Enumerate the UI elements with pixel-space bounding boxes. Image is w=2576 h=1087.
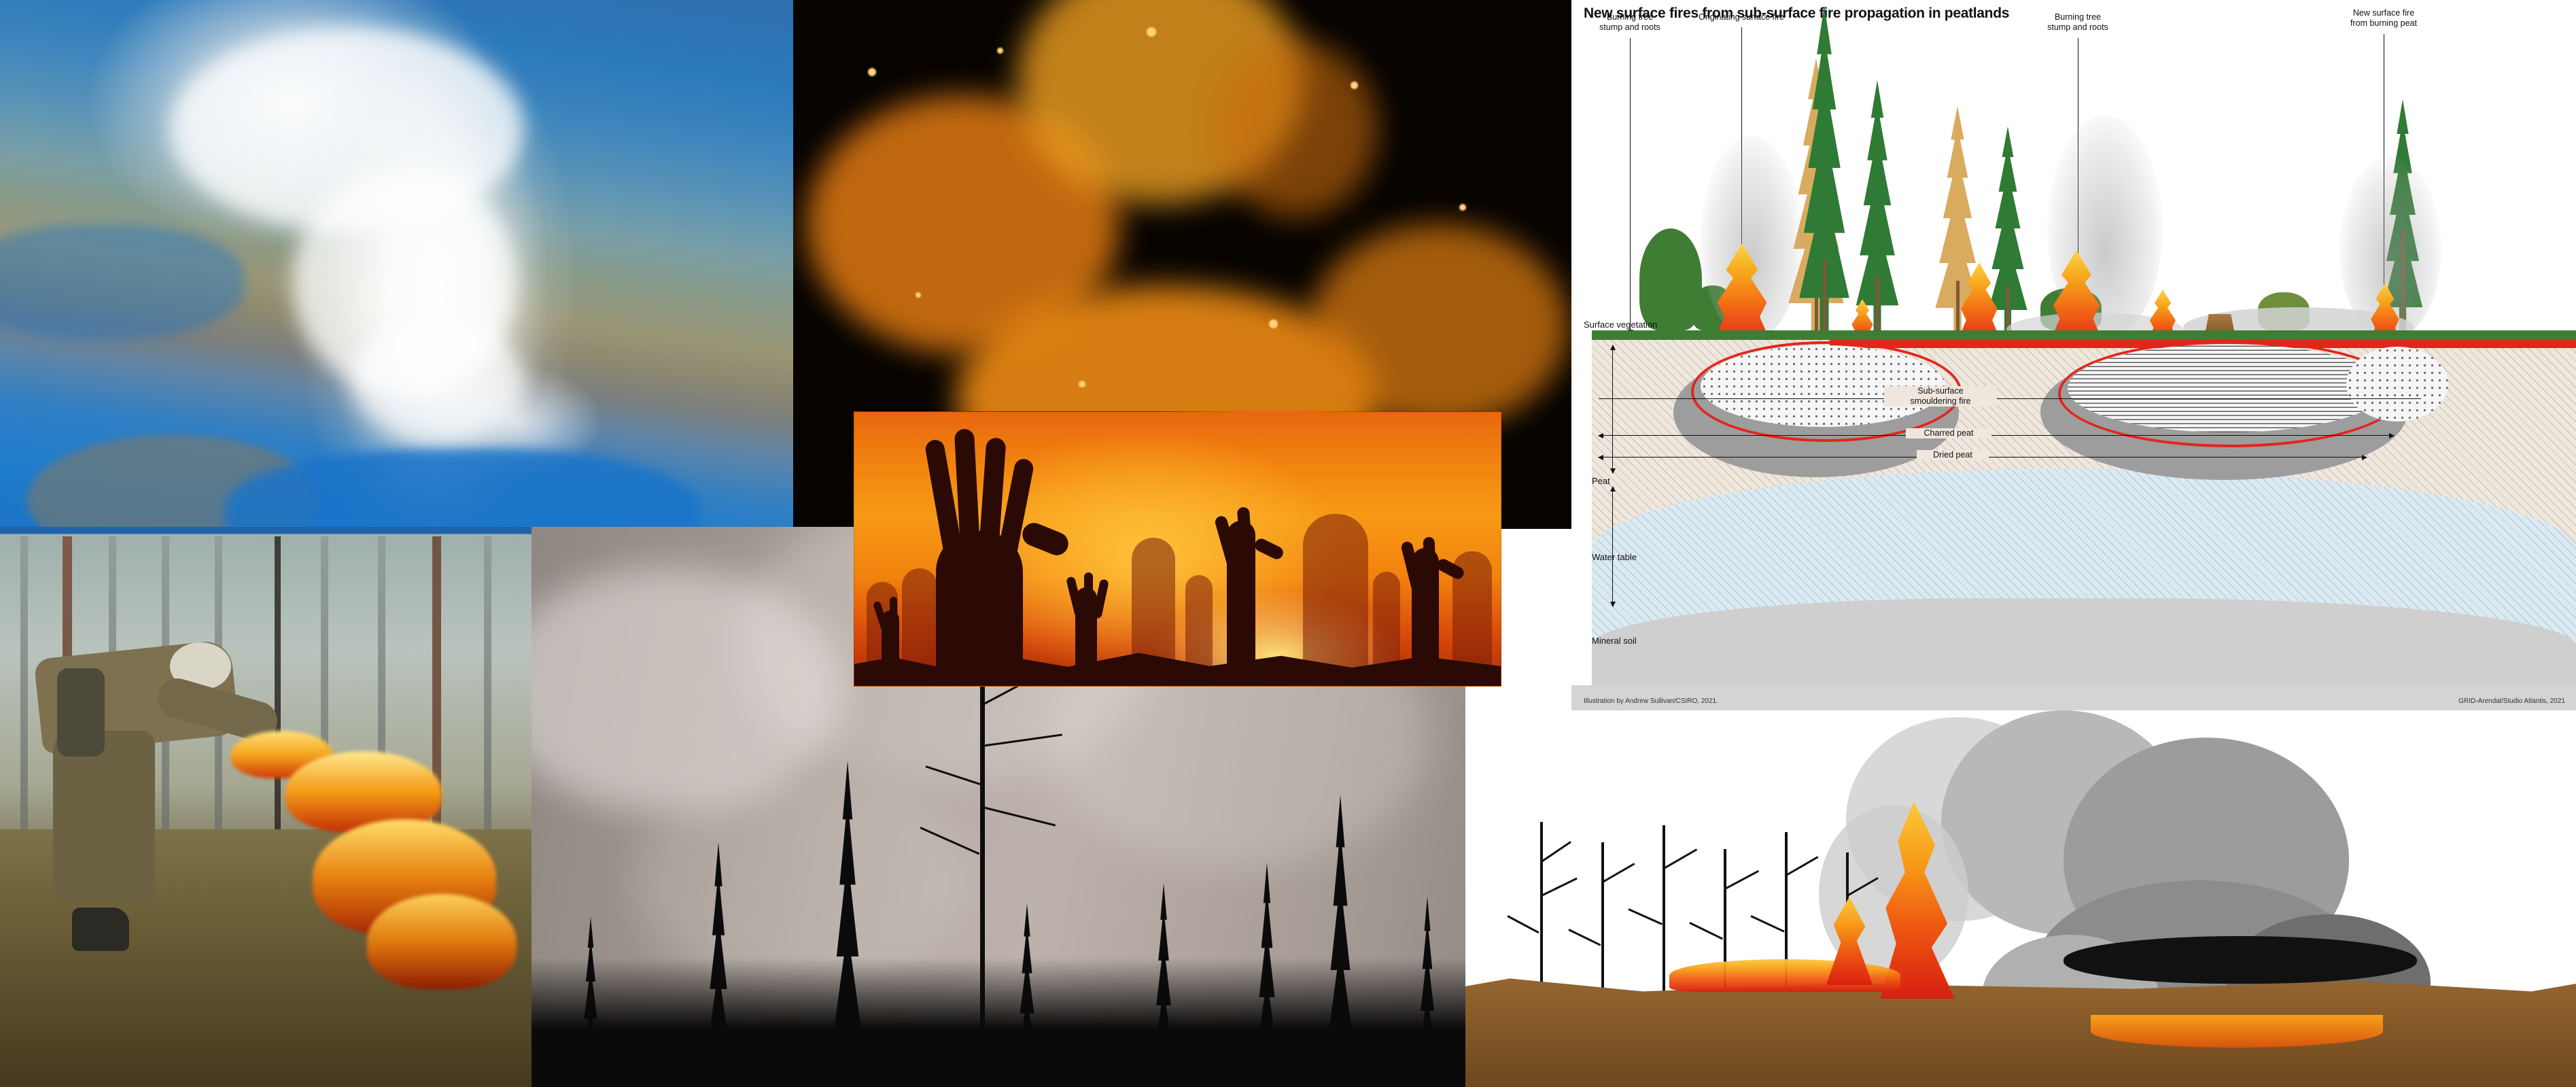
burnt-branch bbox=[1541, 841, 1571, 863]
tree-bole bbox=[1823, 259, 1826, 330]
credit-publisher: GRID-Arendal/Studio Atlantis, 2021 bbox=[2458, 697, 2565, 705]
panel-aerial-smoke-plume bbox=[0, 0, 793, 529]
inline-label-dried-peat: Dried peat bbox=[1917, 450, 1989, 460]
measure-line-sub-surface-fire bbox=[1599, 398, 2421, 399]
burnt-branch bbox=[1541, 878, 1577, 897]
ember-spark bbox=[1351, 82, 1358, 89]
callout-new-surface-fire: New surface fire from burning peat bbox=[2322, 8, 2445, 29]
panel-hands-in-fire bbox=[854, 411, 1501, 687]
burnt-branch bbox=[1689, 922, 1723, 939]
hand-finger bbox=[890, 597, 897, 632]
side-label-peat: Peat bbox=[1592, 476, 1610, 486]
burnt-branch bbox=[1786, 856, 1818, 876]
hand-finger bbox=[1423, 537, 1437, 593]
ember-glow-center bbox=[1215, 41, 1378, 218]
ember-glow-right bbox=[1310, 224, 1568, 428]
conifer-tree-green bbox=[1846, 80, 1909, 330]
burnt-branch bbox=[1602, 863, 1635, 883]
firefighter-boot bbox=[72, 908, 129, 951]
burnt-branch bbox=[1507, 915, 1539, 933]
firefighter-backpack bbox=[57, 668, 105, 757]
callout-burning-tree-stump-right: Burning tree stump and roots bbox=[2020, 12, 2136, 33]
inline-label-sub-surface-smouldering-fire: Sub-surface smouldering fire bbox=[1884, 386, 1997, 407]
peat-depth-arrow bbox=[1612, 345, 1613, 473]
figure-silhouette-large bbox=[1303, 514, 1368, 686]
hand-thumb bbox=[1253, 536, 1285, 561]
burnt-understory-fringe bbox=[532, 958, 1465, 1087]
burnt-branch bbox=[1724, 870, 1759, 890]
inline-label-charred-peat: Charred peat bbox=[1906, 428, 1991, 438]
subsurface-smoulder-glow bbox=[2091, 1015, 2383, 1048]
smoke-plume-base bbox=[353, 320, 523, 442]
hand-finger bbox=[1084, 572, 1093, 617]
ember-spark bbox=[997, 48, 1003, 54]
callout-burning-tree-stump-left: Burning tree stump and roots bbox=[1572, 12, 1688, 33]
water-table-depth-arrow bbox=[1612, 487, 1613, 606]
ember-spark bbox=[1079, 381, 1085, 387]
leader-line-stump-left bbox=[1630, 38, 1631, 334]
snag-branch bbox=[983, 806, 1056, 827]
ember-spark bbox=[868, 68, 876, 76]
lake-shape bbox=[224, 449, 700, 529]
panel-peatland-diagram: New surface fires from sub-surface fire … bbox=[1571, 0, 2576, 721]
panel-firefighter-controlled-burn bbox=[0, 527, 532, 1087]
ember-spark bbox=[1269, 320, 1278, 328]
hand-thumb bbox=[1019, 519, 1072, 559]
ember-spark bbox=[1147, 27, 1156, 37]
tree-bole bbox=[2006, 286, 2010, 330]
side-label-mineral-soil: Mineral soil bbox=[1592, 636, 1637, 646]
tree-bole bbox=[1876, 275, 1879, 330]
burnt-branch bbox=[1568, 929, 1601, 946]
collage-canvas: New surface fires from sub-surface fire … bbox=[0, 0, 2576, 1087]
ember-spark bbox=[916, 292, 921, 298]
burnt-branch bbox=[1750, 915, 1784, 933]
measure-line-charred-peat bbox=[1599, 435, 2394, 436]
tree-bole bbox=[1956, 281, 1960, 330]
side-label-water-table: Water table bbox=[1592, 552, 1637, 562]
panel-peat-smoulder-cartoon bbox=[1465, 710, 2576, 1087]
smoke-puff bbox=[633, 772, 973, 989]
mineral-soil-layer bbox=[1592, 598, 2576, 687]
surface-flame bbox=[367, 894, 517, 989]
lake-shape-2 bbox=[0, 224, 245, 340]
burnt-branch bbox=[1663, 848, 1697, 869]
burning-peat-cavity bbox=[2064, 936, 2417, 984]
dried-peat-pocket bbox=[2346, 347, 2448, 421]
ember-spark bbox=[1459, 204, 1466, 211]
side-label-surface-vegetation: Surface vegetation bbox=[1584, 320, 1657, 330]
burnt-branch bbox=[1628, 908, 1663, 925]
credit-illustration: Illustration by Andrew Sullivan/CSIRO, 2… bbox=[1584, 697, 1718, 705]
